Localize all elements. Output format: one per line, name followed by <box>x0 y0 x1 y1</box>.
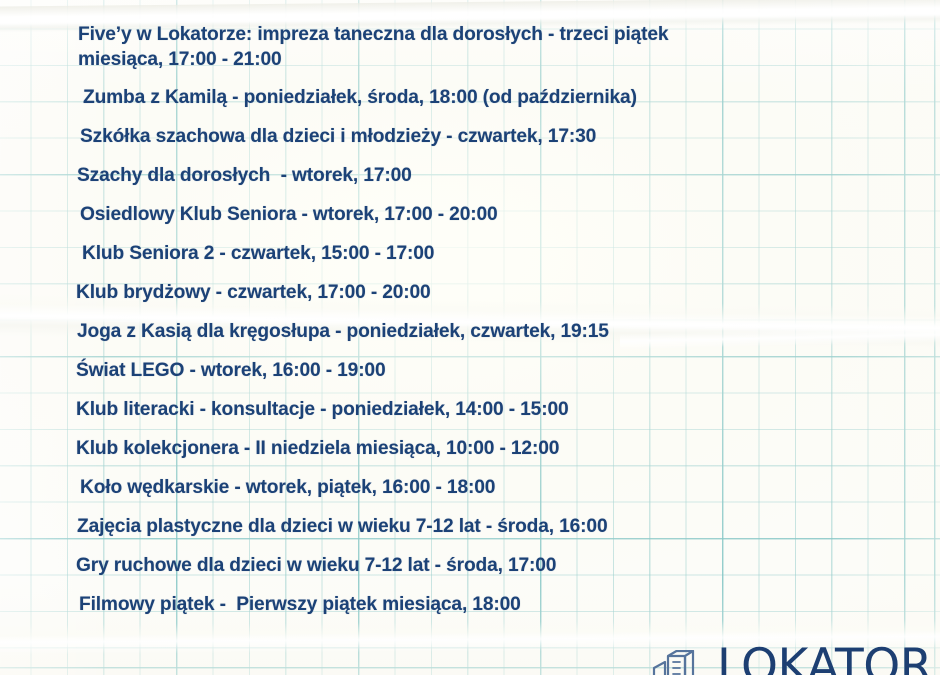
schedule-entry: Szachy dla dorosłych - wtorek, 17:00 <box>0 163 940 188</box>
schedule-list: Five’y w Lokatorze: impreza taneczna dla… <box>0 0 940 617</box>
schedule-entry: Zajęcia plastyczne dla dzieci w wieku 7-… <box>0 514 940 539</box>
schedule-entry: Zumba z Kamilą - poniedziałek, środa, 18… <box>0 85 940 110</box>
schedule-entry: Klub brydżowy - czwartek, 17:00 - 20:00 <box>0 280 940 305</box>
schedule-entry: Klub literacki - konsultacje - poniedzia… <box>0 397 940 422</box>
schedule-entry: Five’y w Lokatorze: impreza taneczna dla… <box>0 22 698 72</box>
logo-wordmark: LOKATOR <box>717 645 932 675</box>
schedule-entry: Szkółka szachowa dla dzieci i młodzieży … <box>0 124 940 149</box>
schedule-entry: Gry ruchowe dla dzieci w wieku 7-12 lat … <box>0 553 940 578</box>
lokator-logo: LOKATOR <box>652 645 932 675</box>
schedule-entry: Joga z Kasią dla kręgosłupa - poniedział… <box>0 319 940 344</box>
schedule-poster: Five’y w Lokatorze: impreza taneczna dla… <box>0 0 940 675</box>
schedule-entry: Klub kolekcjonera - II niedziela miesiąc… <box>0 436 940 461</box>
buildings-icon <box>652 650 708 675</box>
schedule-entry: Koło wędkarskie - wtorek, piątek, 16:00 … <box>0 475 940 500</box>
schedule-entry: Osiedlowy Klub Seniora - wtorek, 17:00 -… <box>0 202 940 227</box>
schedule-entry: Filmowy piątek - Pierwszy piątek miesiąc… <box>0 592 940 617</box>
schedule-entry: Klub Seniora 2 - czwartek, 15:00 - 17:00 <box>0 241 940 266</box>
schedule-entry: Świat LEGO - wtorek, 16:00 - 19:00 <box>0 358 940 383</box>
